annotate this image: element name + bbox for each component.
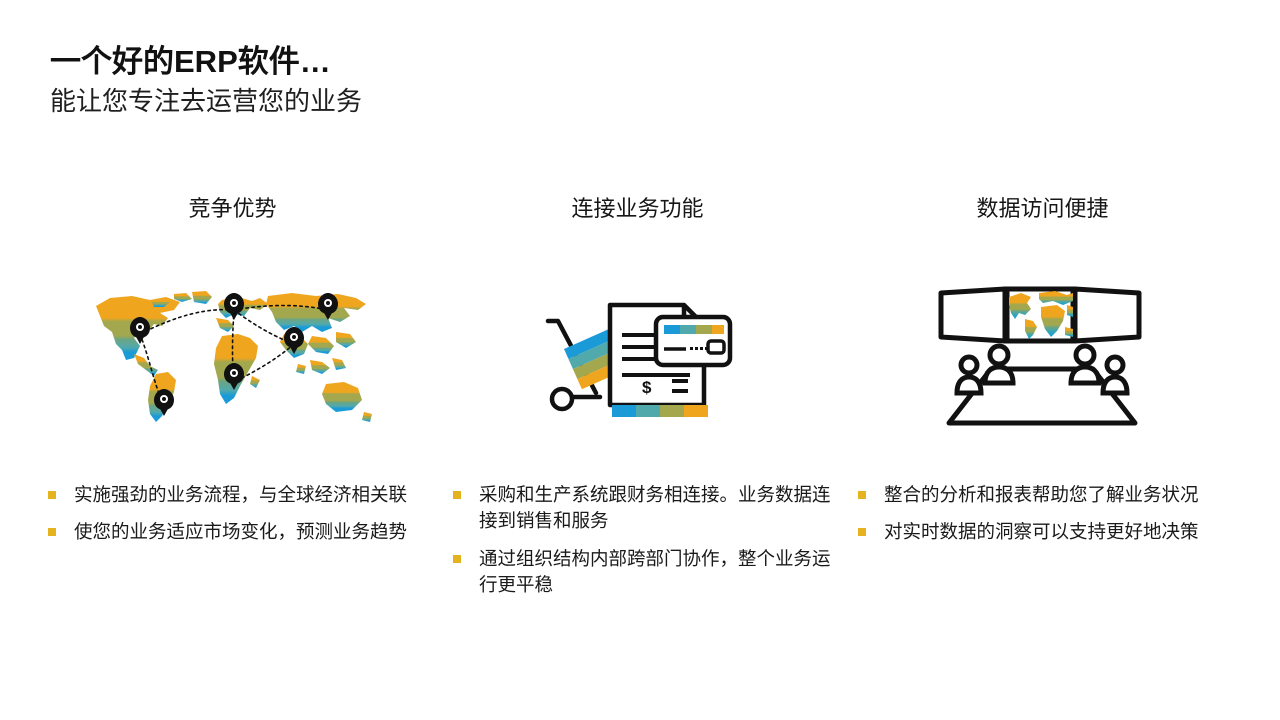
- page-title: 一个好的ERP软件…: [50, 44, 950, 81]
- bullet-text: 通过组织结构内部跨部门协作，整个业务运行更平稳: [479, 546, 836, 599]
- list-item: 整合的分析和报表帮助您了解业务状况: [858, 482, 1241, 508]
- screen-left: [941, 289, 1005, 341]
- bullet-square-icon: [48, 528, 56, 536]
- card-stripe: [664, 325, 724, 334]
- invoice-payment-icon: $: [538, 293, 738, 423]
- column-heading-1: 竞争优势: [30, 196, 435, 226]
- bullet-square-icon: [48, 491, 56, 499]
- column-heading-2: 连接业务功能: [435, 196, 840, 226]
- bullet-list-3: 整合的分析和报表帮助您了解业务状况 对实时数据的洞察可以支持更好地决策: [840, 482, 1245, 546]
- bullet-text: 实施强劲的业务流程，与全球经济相关联: [74, 482, 431, 508]
- column-connected-functions: 连接业务功能: [435, 196, 840, 616]
- bullet-square-icon: [858, 528, 866, 536]
- bullet-square-icon: [858, 491, 866, 499]
- invoice-color-bar: [612, 405, 708, 417]
- list-item: 通过组织结构内部跨部门协作，整个业务运行更平稳: [453, 546, 836, 599]
- bullet-list-1: 实施强劲的业务流程，与全球经济相关联 使您的业务适应市场变化，预测业务趋势: [30, 482, 435, 546]
- bullet-text: 采购和生产系统跟财务相连接。业务数据连接到销售和服务: [479, 482, 836, 535]
- bullet-list-2: 采购和生产系统跟财务相连接。业务数据连接到销售和服务 通过组织结构内部跨部门协作…: [435, 482, 840, 598]
- person: [957, 357, 981, 393]
- list-item: 采购和生产系统跟财务相连接。业务数据连接到销售和服务: [453, 482, 836, 535]
- person: [985, 346, 1013, 383]
- content-columns: 竞争优势: [0, 196, 1280, 616]
- world-map-icon: [88, 288, 378, 428]
- person: [1103, 357, 1127, 393]
- bullet-text: 使您的业务适应市场变化，预测业务趋势: [74, 519, 431, 545]
- list-item: 实施强劲的业务流程，与全球经济相关联: [48, 482, 431, 508]
- conference-room-icon: [935, 283, 1150, 433]
- invoice-card-dolly-illustration: $: [435, 258, 840, 458]
- column-data-access: 数据访问便捷: [840, 196, 1245, 616]
- column-competitive-advantage: 竞争优势: [30, 196, 435, 616]
- bullet-square-icon: [453, 555, 461, 563]
- bullet-square-icon: [453, 491, 461, 499]
- list-item: 使您的业务适应市场变化，预测业务趋势: [48, 519, 431, 545]
- card-chip-icon: [708, 341, 724, 353]
- column-heading-3: 数据访问便捷: [840, 196, 1245, 226]
- bullet-text: 整合的分析和报表帮助您了解业务状况: [884, 482, 1241, 508]
- global-map-illustration: [30, 258, 435, 458]
- meeting-screens-illustration: [840, 258, 1245, 458]
- list-item: 对实时数据的洞察可以支持更好地决策: [858, 519, 1241, 545]
- screen-right: [1075, 289, 1139, 341]
- dollar-sign-icon: $: [642, 378, 652, 397]
- person: [1071, 346, 1099, 383]
- page-subtitle: 能让您专注去运营您的业务: [50, 85, 950, 118]
- bullet-text: 对实时数据的洞察可以支持更好地决策: [884, 519, 1241, 545]
- slide-header: 一个好的ERP软件… 能让您专注去运营您的业务: [50, 44, 950, 117]
